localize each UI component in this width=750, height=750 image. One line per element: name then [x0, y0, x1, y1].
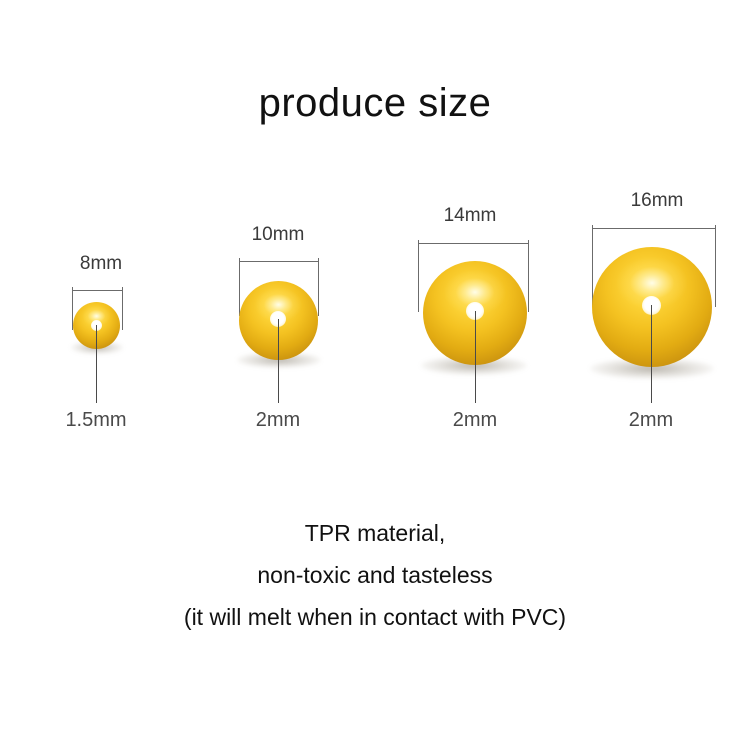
hole-label-2: 2mm [218, 408, 338, 432]
hole-label-3: 2mm [415, 408, 535, 432]
material-line-3: (it will melt when in contact with PVC) [0, 596, 750, 638]
ball-group-2: 10mm 2mm [208, 0, 348, 470]
diameter-label-4: 16mm [597, 190, 717, 212]
product-size-infographic: produce size 8mm 1.5mm 10mm 2mm [0, 0, 750, 750]
dimension-tick-right-4 [715, 225, 716, 307]
dimension-tick-right-3 [528, 240, 529, 312]
dimension-tick-right-2 [318, 258, 319, 316]
hole-label-1: 1.5mm [36, 408, 156, 432]
leader-line-3 [475, 311, 476, 403]
hole-label-4: 2mm [591, 408, 711, 432]
diameter-label-2: 10mm [223, 224, 333, 246]
leader-line-1 [96, 325, 97, 403]
dimension-tick-right-1 [122, 287, 123, 330]
dimension-line-3 [418, 243, 528, 244]
dimension-line-4 [592, 228, 715, 229]
material-line-2: non-toxic and tasteless [0, 554, 750, 596]
material-line-1: TPR material, [0, 512, 750, 554]
ball-group-3: 14mm 2mm [396, 0, 551, 470]
diameter-label-1: 8mm [46, 253, 156, 275]
dimension-tick-left-2 [239, 258, 240, 316]
ball-group-1: 8mm 1.5mm [30, 0, 170, 470]
leader-line-2 [278, 319, 279, 403]
material-description: TPR material, non-toxic and tasteless (i… [0, 512, 750, 638]
ball-group-4: 16mm 2mm [575, 0, 740, 470]
dimension-tick-left-3 [418, 240, 419, 312]
diameter-label-3: 14mm [410, 205, 530, 227]
dimension-line-2 [239, 261, 318, 262]
leader-line-4 [651, 305, 652, 403]
dimension-line-1 [72, 290, 122, 291]
ball-size-row: 8mm 1.5mm 10mm 2mm 14mm [0, 0, 750, 470]
